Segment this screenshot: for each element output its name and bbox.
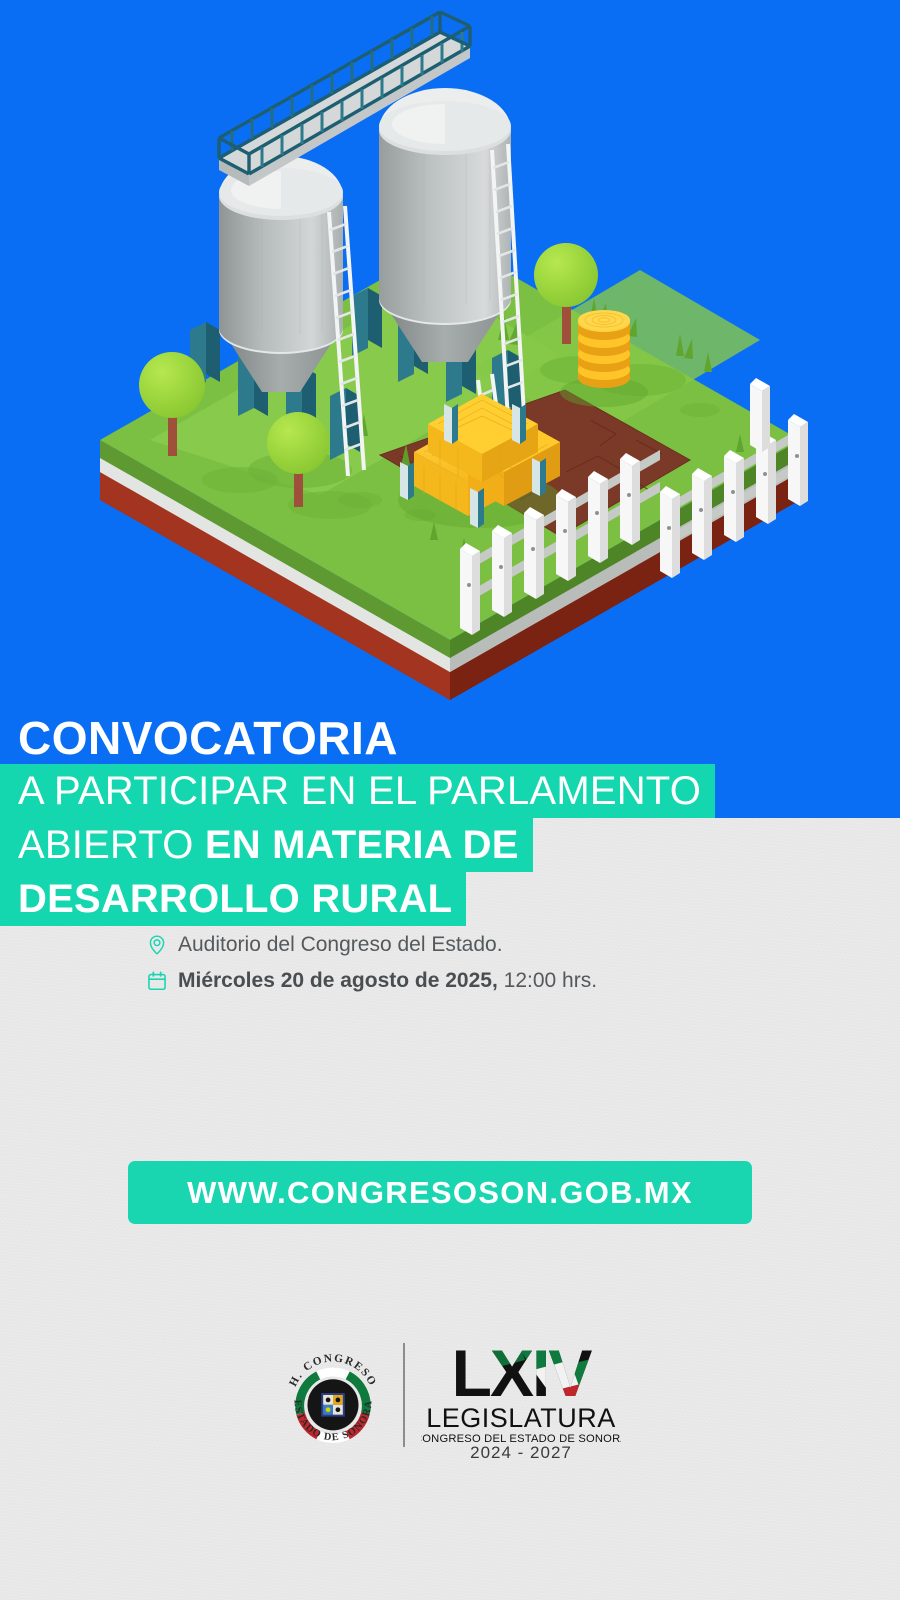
grain-silo-large [379,88,511,362]
headline-line2-light: ABIERTO [18,823,205,867]
date-time-text: 12:00 hrs. [498,969,597,992]
legislatura-word: LEGISLATURA [426,1403,616,1433]
headline-line2-row: ABIERTO EN MATERIA DE [0,818,900,872]
lxiv-legislatura-logo: LXIV LXIV LEGISLATURA CONGRESO DEL ESTAD… [421,1330,621,1460]
event-details: Auditorio del Congreso del Estado. Miérc… [146,930,786,1002]
map-pin-icon [146,934,168,956]
headline-line3-row: DESARROLLO RURAL [0,872,900,926]
location-text: Auditorio del Congreso del Estado. [178,930,503,960]
footer-divider [403,1343,405,1447]
website-url-text: WWW.CONGRESOSON.GOB.MX [187,1175,693,1211]
headline-line2: ABIERTO EN MATERIA DE [0,818,533,872]
isometric-rural-farm-illustration [0,0,900,720]
headline-line1: A PARTICIPAR EN EL PARLAMENTO [0,764,715,818]
poster-root: CONVOCATORIA A PARTICIPAR EN EL PARLAMEN… [0,0,900,1600]
headline-line1-row: A PARTICIPAR EN EL PARLAMENTO [0,764,900,818]
website-url-bar[interactable]: WWW.CONGRESOSON.GOB.MX [128,1161,752,1224]
legislatura-years: 2024 - 2027 [470,1443,572,1460]
date-bold-text: Miércoles 20 de agosto de 2025, [178,969,498,992]
headline-title-row: CONVOCATORIA [0,712,900,764]
headline-block: CONVOCATORIA A PARTICIPAR EN EL PARLAMEN… [0,712,900,926]
headline-title: CONVOCATORIA [0,712,416,764]
date-text: Miércoles 20 de agosto de 2025, 12:00 hr… [178,966,597,996]
calendar-icon [146,970,168,992]
headline-line2-strong: EN MATERIA DE [205,823,519,867]
date-row: Miércoles 20 de agosto de 2025, 12:00 hr… [146,966,786,996]
footer-logos: H. CONGRESO ESTADO DE SONORA LXIV LXIV [0,1330,900,1460]
headline-line3: DESARROLLO RURAL [0,872,466,926]
congreso-sonora-seal: H. CONGRESO ESTADO DE SONORA [279,1331,387,1459]
location-row: Auditorio del Congreso del Estado. [146,930,786,960]
